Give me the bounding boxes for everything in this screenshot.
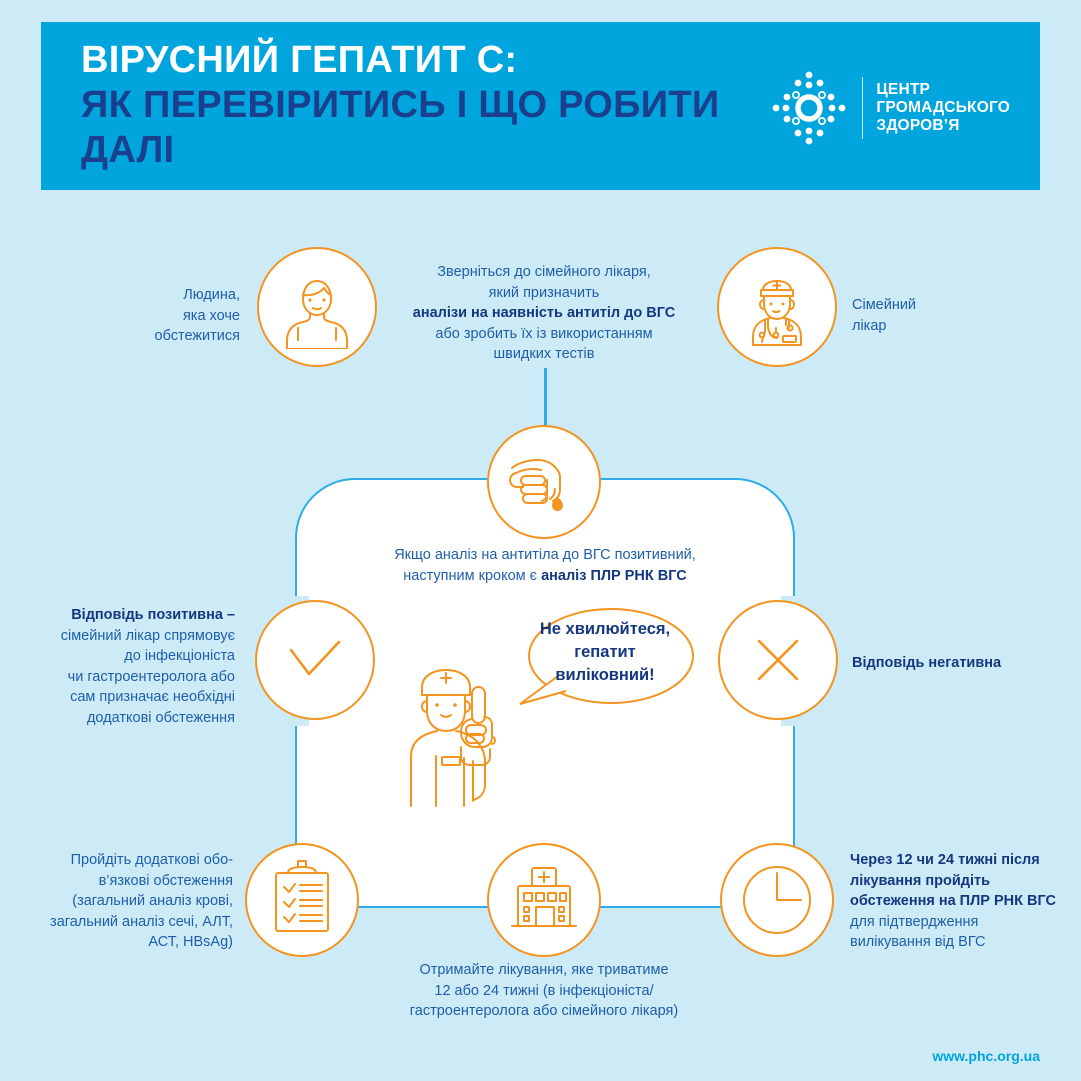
page-title: ВІРУСНИЙ ГЕПАТИТ C: ЯК ПЕРЕВІРИТИСЬ І ЩО… (81, 38, 761, 173)
clock-icon (736, 859, 818, 941)
positive-result-label-rest: сімейний лікар спрямовує до інфекціоніст… (61, 628, 235, 726)
title-line-1: ВІРУСНИЙ ГЕПАТИТ C: (81, 38, 761, 83)
logo-text: ЦЕНТР ГРОМАДСЬКОГО ЗДОРОВ’Я (876, 81, 1010, 135)
logo-text-line-3: ЗДОРОВ’Я (876, 117, 1010, 135)
pcr-note-line-1: Якщо аналіз на антитіла до ВГС позитивни… (380, 545, 710, 566)
clock-circle[interactable] (720, 843, 834, 957)
referral-line-2: який призначить (394, 283, 694, 304)
referral-line-3-bold: аналізи на наявність антитіл до ВГС (413, 305, 676, 321)
person-label: Людина, яка хоче обстежитися (90, 285, 240, 347)
positive-result-label-bold: Відповідь позитивна – (71, 607, 235, 623)
phc-logo: ЦЕНТР ГРОМАДСЬКОГО ЗДОРОВ’Я (770, 60, 1010, 155)
pcr-note-line-2-prefix: наступним кроком є (403, 568, 541, 584)
infographic-canvas: ВІРУСНИЙ ГЕПАТИТ C: ЯК ПЕРЕВІРИТИСЬ І ЩО… (0, 0, 1081, 1081)
hospital-label: Отримайте лікування, яке триватиме 12 аб… (374, 960, 714, 1022)
cross-icon (742, 624, 814, 696)
clipboard-checklist-icon (262, 860, 342, 940)
clock-label-rest: для підтвердження вилікування від ВГС (850, 914, 986, 951)
checkmark-icon (279, 624, 351, 696)
clock-label: Через 12 чи 24 тижні після лікування про… (850, 850, 1060, 953)
doctor-icon (734, 264, 820, 350)
finger-prick-circle[interactable] (487, 425, 601, 539)
positive-result-label: Відповідь позитивна – сімейний лікар спр… (20, 605, 235, 728)
referral-line-4: або зробить їх із використанням (394, 324, 694, 345)
negative-result-label: Відповідь негативна (852, 653, 1052, 674)
pcr-note-line-2-bold: аналіз ПЛР РНК ВГС (541, 568, 687, 584)
positive-result-circle[interactable] (255, 600, 375, 720)
referral-text: Зверніться до сімейного лікаря, який при… (394, 262, 694, 365)
negative-result-circle[interactable] (718, 600, 838, 720)
family-doctor-circle[interactable] (717, 247, 837, 367)
logo-text-line-2: ГРОМАДСЬКОГО (876, 99, 1010, 117)
referral-line-5: швидких тестів (394, 344, 694, 365)
doctor-pointing-icon (400, 645, 575, 825)
title-line-2: ЯК ПЕРЕВІРИТИСЬ І ЩО РОБИТИ ДАЛІ (81, 83, 761, 173)
phc-logo-mark-icon (770, 69, 848, 147)
hospital-circle[interactable] (487, 843, 601, 957)
connector-referral-to-finger (544, 368, 547, 428)
person-circle[interactable] (257, 247, 377, 367)
logo-text-line-1: ЦЕНТР (876, 81, 1010, 99)
family-doctor-label: Сімейний лікар (852, 295, 1002, 336)
person-icon (275, 265, 359, 349)
referral-line-1: Зверніться до сімейного лікаря, (394, 262, 694, 283)
hospital-building-icon (503, 859, 585, 941)
clipboard-label: Пройдіть додаткові обо- в’язкові обстеже… (18, 850, 233, 953)
finger-blood-drop-icon (502, 440, 586, 524)
pcr-note-text: Якщо аналіз на антитіла до ВГС позитивни… (380, 545, 710, 586)
footer-url[interactable]: www.phc.org.ua (932, 1048, 1040, 1064)
clipboard-circle[interactable] (245, 843, 359, 957)
clock-label-bold: Через 12 чи 24 тижні після лікування про… (850, 852, 1056, 909)
speech-line-1: Не хвилюйтеся, (530, 618, 680, 641)
